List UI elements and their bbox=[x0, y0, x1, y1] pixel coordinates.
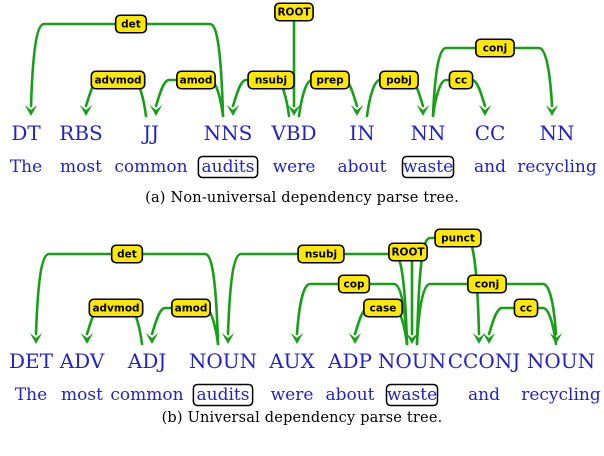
dep-label-root-text: ROOT bbox=[277, 7, 311, 19]
arc-det-3-0[interactable] bbox=[31, 24, 223, 116]
dep-label-cop-text: cop bbox=[344, 279, 365, 291]
pos-tag-4: VBD bbox=[270, 121, 316, 145]
tree-b-container: detadvmodamodnsubjcopcasepunctconjccROOT… bbox=[0, 228, 604, 408]
token-word-1: most bbox=[60, 157, 102, 177]
token-word-3: audits bbox=[202, 157, 255, 177]
pos-tag-7: CC bbox=[475, 121, 506, 145]
pos-tag-6: NOUN bbox=[378, 349, 446, 373]
dep-label-conj-text: conj bbox=[483, 43, 508, 55]
dep-label-conj[interactable]: conj bbox=[468, 275, 506, 293]
pos-tag-2: JJ bbox=[141, 121, 159, 145]
dep-label-advmod[interactable]: advmod bbox=[89, 299, 142, 317]
dep-label-det[interactable]: det bbox=[116, 15, 147, 33]
dep-label-nsubj-text: nsubj bbox=[255, 75, 287, 87]
token-word-6: waste bbox=[403, 157, 453, 177]
pos-tag-5: IN bbox=[349, 121, 374, 145]
pos-tag-6: NN bbox=[411, 121, 446, 145]
dep-label-layer: detadvmodamodnsubjpreppobjccconjROOT bbox=[91, 3, 514, 89]
dep-label-cop[interactable]: cop bbox=[339, 275, 370, 293]
tree-a-svg: detadvmodamodnsubjpreppobjccconjROOTDTTh… bbox=[0, 0, 604, 188]
dep-label-det[interactable]: det bbox=[112, 245, 143, 263]
dep-label-advmod-text: advmod bbox=[92, 303, 139, 315]
pos-tag-3: NNS bbox=[204, 121, 253, 145]
token-word-0: The bbox=[10, 157, 42, 177]
dep-label-conj-text: conj bbox=[475, 279, 500, 291]
dep-label-det-text: det bbox=[117, 249, 137, 261]
token-word-8: recycling bbox=[517, 157, 597, 177]
dep-label-punct[interactable]: punct bbox=[435, 229, 481, 247]
pos-tag-0: DET bbox=[9, 349, 54, 373]
token-word-1: most bbox=[61, 385, 103, 405]
token-word-4: were bbox=[271, 385, 314, 405]
arc-layer bbox=[25, 21, 558, 116]
dependency-parse-figure: detadvmodamodnsubjpreppobjccconjROOTDTTh… bbox=[0, 0, 604, 426]
dep-label-prep[interactable]: prep bbox=[311, 71, 349, 89]
dep-label-conj[interactable]: conj bbox=[476, 39, 514, 57]
dep-label-amod[interactable]: amod bbox=[177, 71, 215, 89]
dep-label-pobj[interactable]: pobj bbox=[380, 71, 418, 89]
token-word-5: about bbox=[337, 157, 386, 177]
dep-label-advmod[interactable]: advmod bbox=[91, 71, 144, 89]
tree-a-container: detadvmodamodnsubjpreppobjccconjROOTDTTh… bbox=[0, 0, 604, 188]
token-layer: DETTheADVmostADJcommonNOUNauditsAUXwereA… bbox=[9, 349, 601, 406]
caption-b: (b) Universal dependency parse tree. bbox=[0, 410, 604, 426]
pos-tag-0: DT bbox=[11, 121, 41, 145]
dep-label-punct-text: punct bbox=[441, 233, 475, 245]
dep-label-det-text: det bbox=[121, 19, 141, 31]
dep-label-amod[interactable]: amod bbox=[172, 299, 210, 317]
dep-label-prep-text: prep bbox=[316, 75, 344, 87]
dep-label-cc[interactable]: cc bbox=[449, 71, 472, 89]
dep-label-amod-text: amod bbox=[180, 75, 213, 87]
token-word-7: and bbox=[468, 385, 500, 405]
token-word-0: The bbox=[15, 385, 47, 405]
dep-label-root-text: ROOT bbox=[391, 247, 425, 259]
dep-label-root[interactable]: ROOT bbox=[389, 243, 427, 261]
caption-a: (a) Non-universal dependency parse tree. bbox=[0, 190, 604, 206]
dep-label-nsubj[interactable]: nsubj bbox=[298, 245, 344, 263]
dep-label-case[interactable]: case bbox=[364, 299, 402, 317]
pos-tag-4: AUX bbox=[268, 349, 315, 373]
token-word-7: and bbox=[474, 157, 506, 177]
dep-label-cc-text: cc bbox=[520, 303, 532, 315]
pos-tag-2: ADJ bbox=[127, 349, 167, 373]
dep-label-layer: detadvmodamodnsubjcopcasepunctconjccROOT bbox=[89, 229, 537, 317]
dep-label-nsubj-text: nsubj bbox=[305, 249, 337, 261]
token-word-3: audits bbox=[197, 385, 250, 405]
pos-tag-8: NOUN bbox=[527, 349, 595, 373]
dep-label-cc[interactable]: cc bbox=[514, 299, 537, 317]
dep-label-pobj-text: pobj bbox=[386, 75, 412, 87]
pos-tag-5: ADP bbox=[327, 349, 372, 373]
dep-label-amod-text: amod bbox=[175, 303, 208, 315]
dep-label-root[interactable]: ROOT bbox=[275, 3, 313, 21]
token-word-2: common bbox=[114, 157, 187, 177]
token-word-5: about bbox=[325, 385, 374, 405]
token-layer: DTTheRBSmostJJcommonNNSauditsVBDwereINab… bbox=[10, 121, 597, 178]
dep-label-case-text: case bbox=[370, 303, 397, 315]
token-word-4: were bbox=[273, 157, 316, 177]
token-word-8: recycling bbox=[521, 385, 601, 405]
dep-label-cc-text: cc bbox=[455, 75, 467, 87]
token-word-6: waste bbox=[387, 385, 437, 405]
dep-label-nsubj[interactable]: nsubj bbox=[248, 71, 294, 89]
tree-b-svg: detadvmodamodnsubjcopcasepunctconjccROOT… bbox=[0, 228, 604, 408]
pos-tag-1: RBS bbox=[59, 121, 102, 145]
dep-label-advmod-text: advmod bbox=[94, 75, 141, 87]
pos-tag-7: CCONJ bbox=[448, 349, 521, 373]
pos-tag-3: NOUN bbox=[189, 349, 257, 373]
pos-tag-8: NN bbox=[540, 121, 575, 145]
token-word-2: common bbox=[110, 385, 183, 405]
pos-tag-1: ADV bbox=[59, 349, 105, 373]
